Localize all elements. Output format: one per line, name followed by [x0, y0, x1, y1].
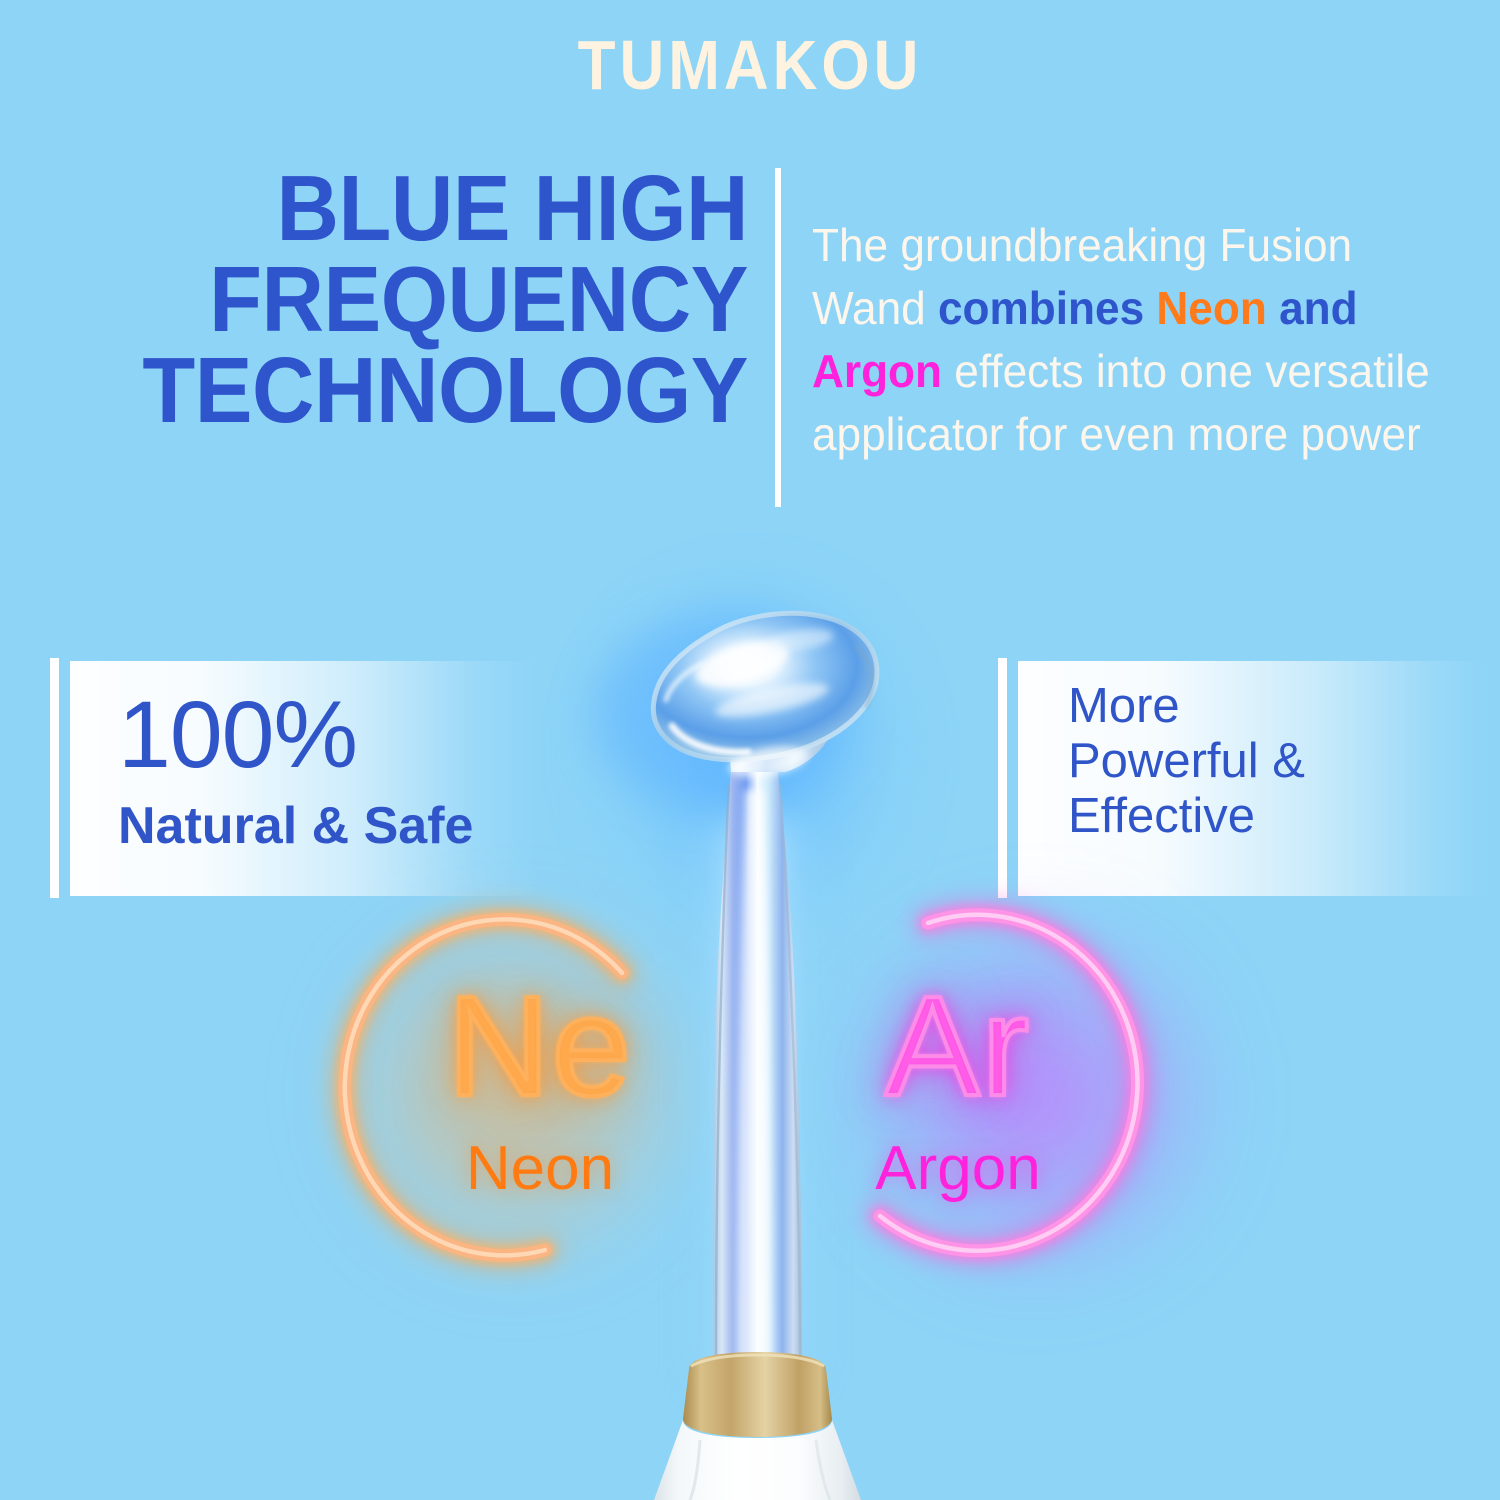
wand-gold-collar [683, 1352, 832, 1437]
fusion-wand-product-image [0, 0, 1500, 1500]
marketing-banner: TUMAKOU BLUE HIGH FREQUENCY TECHNOLOGY T… [0, 0, 1500, 1500]
